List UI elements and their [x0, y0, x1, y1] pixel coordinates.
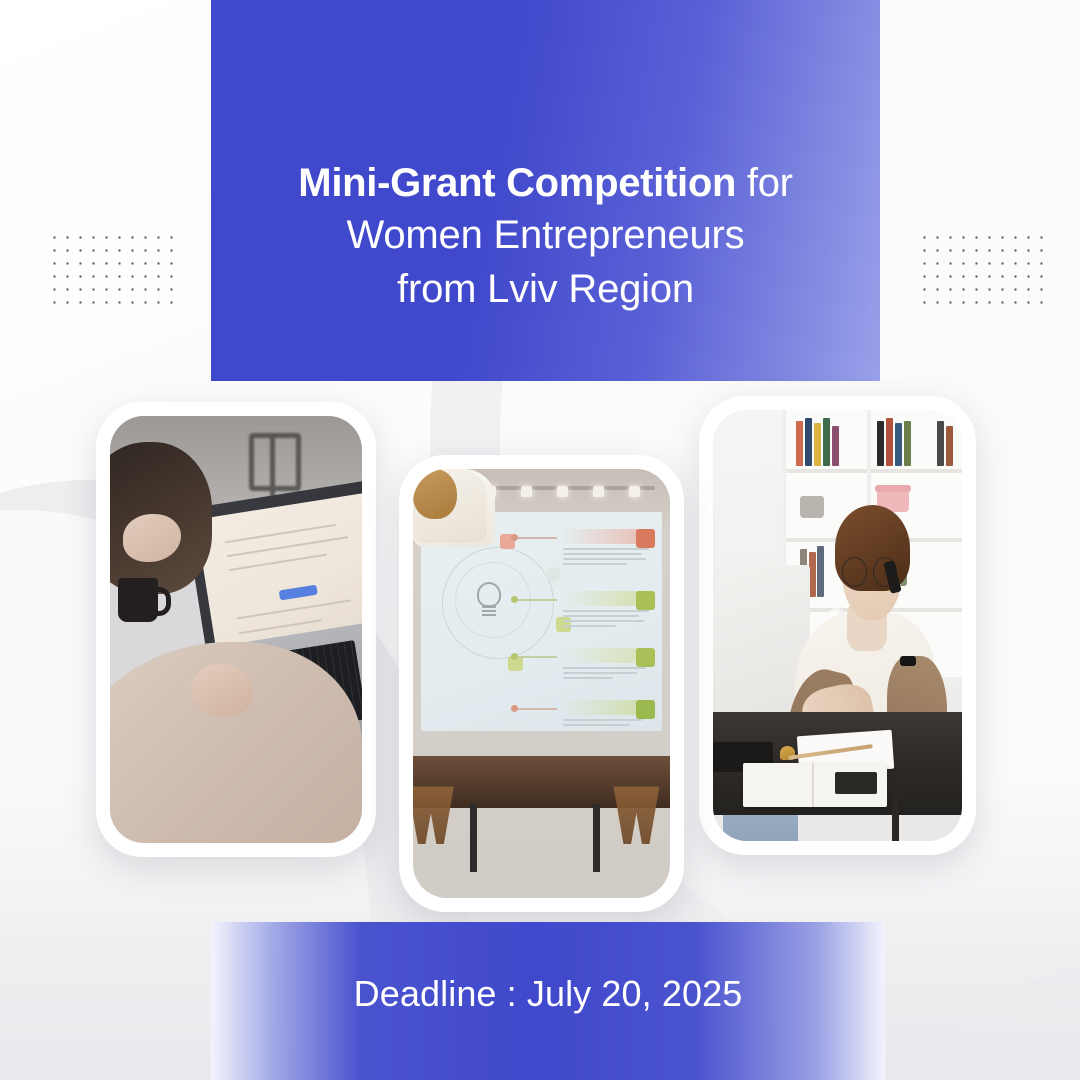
photo1-coffee-mug-icon: [118, 578, 158, 622]
headline-line-3: from Lviv Region: [397, 262, 694, 316]
photo3-desk-leg: [892, 798, 899, 841]
photo-woman-phone-desk-image: [713, 410, 962, 841]
deadline-banner: Deadline : July 20, 2025: [211, 922, 885, 1080]
dot-grid-pattern-left-icon: [45, 228, 175, 306]
photo2-lamp-icon: [593, 486, 604, 497]
headline-line-2: Women Entrepreneurs: [347, 208, 745, 262]
photo2-lamp-icon: [557, 486, 568, 497]
headline-primary-text: Mini-Grant Competition: [298, 161, 736, 205]
photo3-second-phone-icon: [835, 772, 877, 794]
photo2-step-2-block: [563, 591, 655, 630]
photo3-kettle-icon: [800, 496, 824, 518]
headline-block: Mini-Grant Competition for Women Entrepr…: [211, 0, 880, 381]
dot-grid-pattern-right-icon: [915, 228, 1045, 306]
photo-card-team-meeting: [399, 455, 684, 912]
photo2-step-1-block: [563, 529, 655, 568]
photo2-table-leg: [470, 804, 477, 873]
photo1-hand-typing: [191, 664, 253, 716]
photo-card-woman-phone-desk: [699, 396, 976, 855]
photo2-step-3-block: [563, 648, 655, 682]
photo2-step-4-block: [563, 700, 655, 729]
photo2-table-leg: [593, 804, 600, 873]
photo-card-woman-laptop: [96, 402, 376, 857]
headline-line-1: Mini-Grant Competition for: [298, 158, 792, 208]
headline-connector-text: for: [736, 161, 793, 205]
deadline-text: Deadline : July 20, 2025: [354, 973, 743, 1015]
photo-woman-laptop-image: [110, 416, 362, 843]
photo2-lamp-icon: [521, 486, 532, 497]
poster-canvas: Mini-Grant Competition for Women Entrepr…: [0, 0, 1080, 1080]
photo2-lamp-icon: [629, 486, 640, 497]
photo3-wristwatch-icon: [900, 656, 916, 666]
photo2-diagram-icon-chart: [546, 567, 561, 582]
photo-team-meeting-image: [413, 469, 670, 898]
photo1-screen-button: [278, 585, 318, 601]
photo2-lightbulb-icon: [474, 582, 504, 616]
photo1-stool-icon: [249, 433, 301, 491]
